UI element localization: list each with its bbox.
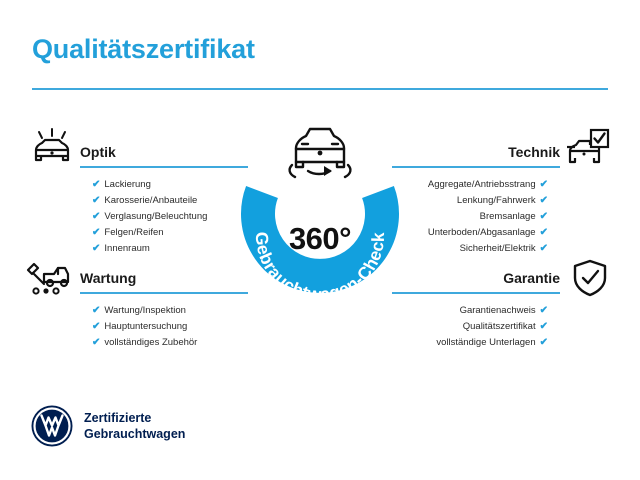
check-icon: ✔ xyxy=(540,195,548,206)
car-shine-icon xyxy=(30,128,74,168)
list-item-label: Lackierung xyxy=(104,179,150,190)
list-item: ✔vollständiges Zubehör xyxy=(80,335,248,351)
check-icon: ✔ xyxy=(92,179,100,190)
section-header: Garantie xyxy=(392,268,560,294)
list-item-label: Unterboden/Abgasanlage xyxy=(428,227,536,238)
badge-value: 360° xyxy=(232,148,408,324)
list-item: ✔Hauptuntersuchung xyxy=(80,319,248,335)
section-title: Garantie xyxy=(392,268,560,288)
check-icon: ✔ xyxy=(540,227,548,238)
list-item-label: Sicherheit/Elektrik xyxy=(460,243,536,254)
section-divider xyxy=(80,292,248,294)
footer-line-2: Gebrauchtwagen xyxy=(84,426,185,442)
list-item: Unterboden/Abgasanlage✔ xyxy=(392,225,560,241)
section-optik: Optik ✔Lackierung ✔Karosserie/Anbauteile… xyxy=(80,142,248,257)
list-item: vollständige Unterlagen✔ xyxy=(392,335,560,351)
list-item: Aggregate/Antriebsstrang✔ xyxy=(392,177,560,193)
check-icon: ✔ xyxy=(92,195,100,206)
volkswagen-logo xyxy=(30,404,74,448)
section-divider xyxy=(392,166,560,168)
check-icon: ✔ xyxy=(540,337,548,348)
list-item: Sicherheit/Elektrik✔ xyxy=(392,241,560,257)
check-icon: ✔ xyxy=(92,305,100,316)
list-item: ✔Felgen/Reifen xyxy=(80,225,248,241)
check-icon: ✔ xyxy=(540,211,548,222)
list-item: ✔Innenraum xyxy=(80,241,248,257)
car-checkbox-icon xyxy=(566,128,610,168)
list-item: ✔Karosserie/Anbauteile xyxy=(80,193,248,209)
section-title: Wartung xyxy=(80,268,248,288)
checklist-wartung: ✔Wartung/Inspektion ✔Hauptuntersuchung ✔… xyxy=(80,303,248,351)
list-item-label: Karosserie/Anbauteile xyxy=(104,195,197,206)
section-divider xyxy=(392,292,560,294)
list-item: Qualitätszertifikat✔ xyxy=(392,319,560,335)
check-icon: ✔ xyxy=(92,211,100,222)
checklist-optik: ✔Lackierung ✔Karosserie/Anbauteile ✔Verg… xyxy=(80,177,248,257)
check-icon: ✔ xyxy=(92,227,100,238)
list-item: Bremsanlage✔ xyxy=(392,209,560,225)
list-item-label: Garantienachweis xyxy=(460,305,536,316)
list-item-label: Bremsanlage xyxy=(480,211,536,222)
footer-line-1: Zertifizierte xyxy=(84,410,185,426)
list-item-label: Verglasung/Beleuchtung xyxy=(104,211,207,222)
list-item-label: Lenkung/Fahrwerk xyxy=(457,195,536,206)
list-item: ✔Wartung/Inspektion xyxy=(80,303,248,319)
check-icon: ✔ xyxy=(92,321,100,332)
section-title: Technik xyxy=(392,142,560,162)
section-divider xyxy=(80,166,248,168)
check-icon: ✔ xyxy=(540,305,548,316)
section-header: Wartung xyxy=(80,268,248,294)
section-header: Technik xyxy=(392,142,560,168)
check-icon: ✔ xyxy=(92,243,100,254)
list-item: ✔Lackierung xyxy=(80,177,248,193)
car-lift-icon xyxy=(24,258,68,298)
list-item-label: Qualitätszertifikat xyxy=(463,321,536,332)
list-item-label: Aggregate/Antriebsstrang xyxy=(428,179,536,190)
quality-certificate-page: Qualitätszertifikat Optik ✔Lackierung xyxy=(0,0,640,480)
section-header: Optik xyxy=(80,142,248,168)
list-item-label: vollständige Unterlagen xyxy=(436,337,535,348)
section-title: Optik xyxy=(80,142,248,162)
section-garantie: Garantie Garantienachweis✔ Qualitätszert… xyxy=(392,268,560,351)
check-icon: ✔ xyxy=(92,337,100,348)
list-item-label: Felgen/Reifen xyxy=(104,227,163,238)
checklist-technik: Aggregate/Antriebsstrang✔ Lenkung/Fahrwe… xyxy=(392,177,560,257)
section-wartung: Wartung ✔Wartung/Inspektion ✔Hauptunters… xyxy=(80,268,248,351)
360-check-badge: Gebrauchtwagen-Check 360° xyxy=(232,148,408,324)
check-icon: ✔ xyxy=(540,321,548,332)
check-icon: ✔ xyxy=(540,179,548,190)
list-item-label: vollständiges Zubehör xyxy=(104,337,197,348)
list-item-label: Hauptuntersuchung xyxy=(104,321,187,332)
page-title: Qualitätszertifikat xyxy=(32,34,255,65)
shield-check-icon xyxy=(570,258,614,298)
title-divider xyxy=(32,88,608,90)
list-item-label: Innenraum xyxy=(104,243,149,254)
footer-brand-text: Zertifizierte Gebrauchtwagen xyxy=(84,410,185,442)
list-item-label: Wartung/Inspektion xyxy=(104,305,186,316)
list-item: Garantienachweis✔ xyxy=(392,303,560,319)
checklist-garantie: Garantienachweis✔ Qualitätszertifikat✔ v… xyxy=(392,303,560,351)
list-item: Lenkung/Fahrwerk✔ xyxy=(392,193,560,209)
section-technik: Technik Aggregate/Antriebsstrang✔ Lenkun… xyxy=(392,142,560,257)
check-icon: ✔ xyxy=(540,243,548,254)
list-item: ✔Verglasung/Beleuchtung xyxy=(80,209,248,225)
